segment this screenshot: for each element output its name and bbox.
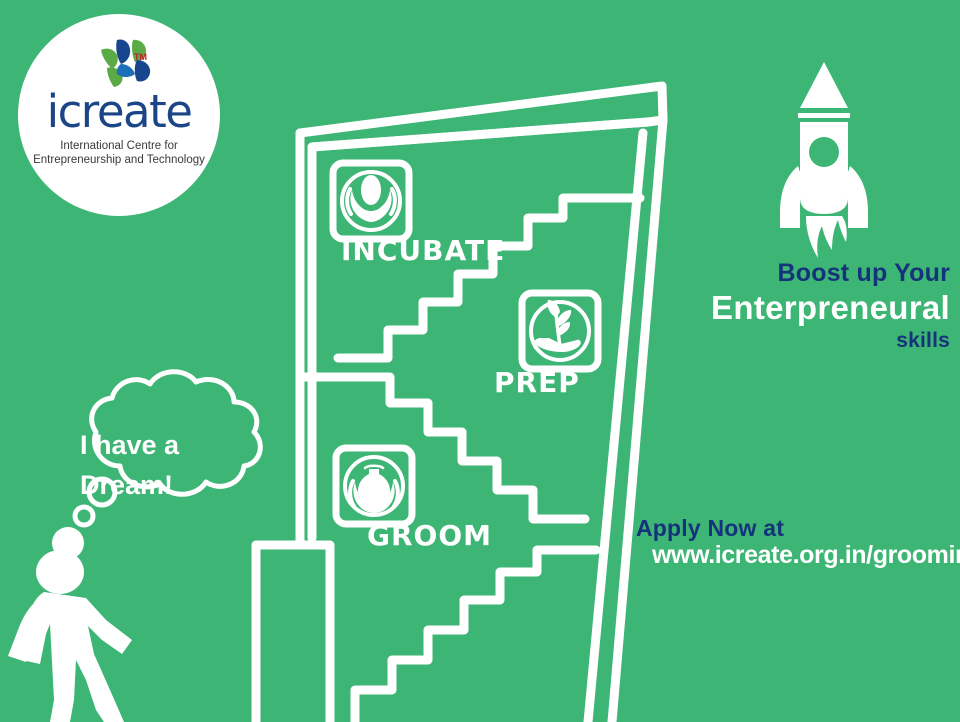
logo-wordmark: icreate xyxy=(47,90,192,134)
boost-headline-block: Boost up Your Enterpreneural skills xyxy=(660,258,950,354)
icreate-logo-mark: TM xyxy=(77,34,161,90)
step-label-prep: PREP xyxy=(494,366,580,399)
staircase-icon xyxy=(355,550,596,722)
rocket-icon xyxy=(780,62,868,258)
thought-bubble-line2: Dream! xyxy=(80,465,250,505)
poster-canvas: TM icreate International Centre for Entr… xyxy=(0,0,960,722)
hand-holding-sprout-icon xyxy=(522,293,598,369)
boost-line-1: Boost up Your xyxy=(660,258,950,288)
apply-now-label: Apply Now at xyxy=(600,516,960,541)
step-label-incubate: INCUBATE xyxy=(341,234,505,267)
hands-holding-vase-icon xyxy=(336,448,412,524)
boost-line-2: Enterpreneural xyxy=(660,288,950,328)
walking-person-icon xyxy=(8,550,132,722)
logo-tagline-line1: International Centre for xyxy=(29,139,209,153)
trademark-symbol: TM xyxy=(134,52,147,62)
logo-petals-icon xyxy=(77,34,161,90)
step-label-groom: GROOM xyxy=(367,519,492,552)
pillar-block xyxy=(256,545,330,722)
logo-tagline-line2: Entrepreneurship and Technology xyxy=(29,153,209,167)
apply-now-block[interactable]: Apply Now at www.icreate.org.in/grooming xyxy=(600,516,960,570)
apply-now-url[interactable]: www.icreate.org.in/grooming xyxy=(600,541,960,570)
logo-tagline: International Centre for Entrepreneurshi… xyxy=(29,139,209,167)
boost-line-3: skills xyxy=(660,328,950,354)
icreate-logo-badge: TM icreate International Centre for Entr… xyxy=(18,14,220,216)
thought-bubble-text: I have a Dream! xyxy=(80,425,250,505)
three-d-frame-icon xyxy=(300,86,663,722)
hands-holding-seed-icon xyxy=(333,163,409,239)
thought-bubble-line1: I have a xyxy=(80,425,250,465)
